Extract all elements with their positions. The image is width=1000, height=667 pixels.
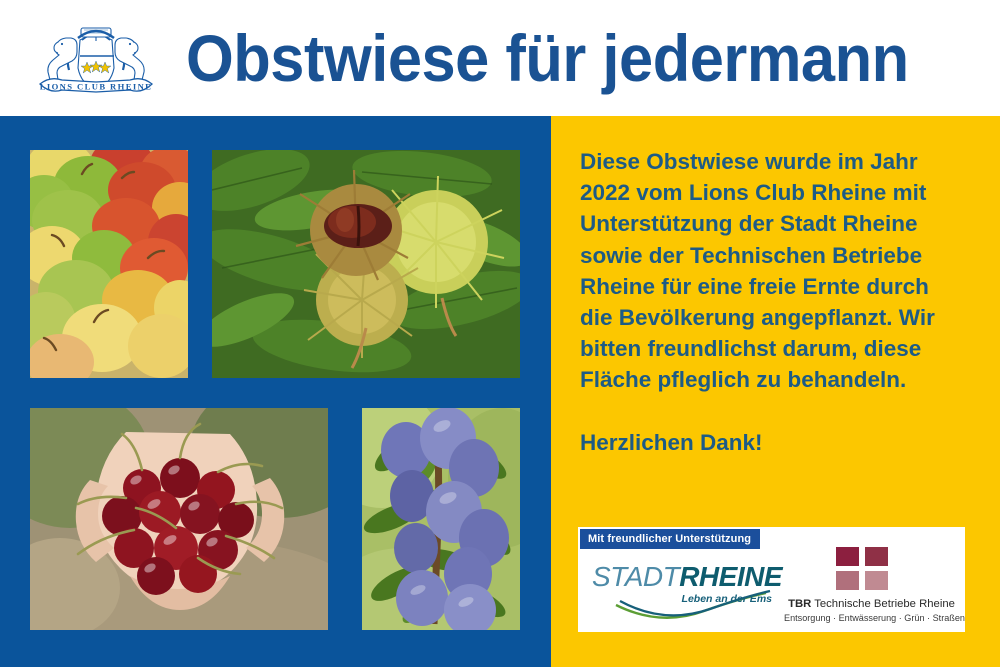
stadt-rheine-logo: STADTRHEINE Leben an der Ems <box>592 559 778 621</box>
tbr-square-bottom-left <box>836 571 859 590</box>
crest-motto-text: LIONS CLUB RHEINE <box>40 82 153 92</box>
photo-apples <box>30 150 188 378</box>
tbr-square-top-right <box>865 547 888 566</box>
body-text: Diese Obstwiese wurde im Jahr 2022 vom L… <box>580 146 952 458</box>
tbr-logo: TBR Technische Betriebe Rheine Entsorgun… <box>784 547 959 625</box>
stadt-wave-icon <box>592 559 778 621</box>
sponsor-tag-label: Mit freundlicher Unterstützung <box>580 529 760 549</box>
tbr-services: Entsorgung · Entwässerung · Grün · Straß… <box>784 613 959 623</box>
photo-chestnut <box>212 150 520 378</box>
tbr-abbr: TBR <box>788 598 811 610</box>
poster: LIONS CLUB RHEINE Obstwiese für jederman… <box>0 0 1000 667</box>
header: LIONS CLUB RHEINE Obstwiese für jederman… <box>0 0 1000 116</box>
tbr-squares-icon <box>836 547 888 591</box>
tbr-name: TBR Technische Betriebe Rheine <box>784 598 959 610</box>
page-title: Obstwiese für jedermann <box>186 16 909 100</box>
sponsor-box: Mit freundlicher Unterstützung STADTRHEI… <box>578 527 965 632</box>
body-paragraph: Diese Obstwiese wurde im Jahr 2022 vom L… <box>580 146 952 396</box>
tbr-square-top-left <box>836 547 859 566</box>
photo-plums <box>362 408 520 630</box>
lions-club-crest-icon: LIONS CLUB RHEINE <box>22 18 170 100</box>
tbr-square-bottom-right <box>865 571 888 590</box>
body-thanks: Herzlichen Dank! <box>580 427 952 458</box>
stadt-rheine-tagline: Leben an der Ems <box>682 593 772 605</box>
tbr-fullname: Technische Betriebe Rheine <box>811 598 955 610</box>
photo-cherries <box>30 408 328 630</box>
